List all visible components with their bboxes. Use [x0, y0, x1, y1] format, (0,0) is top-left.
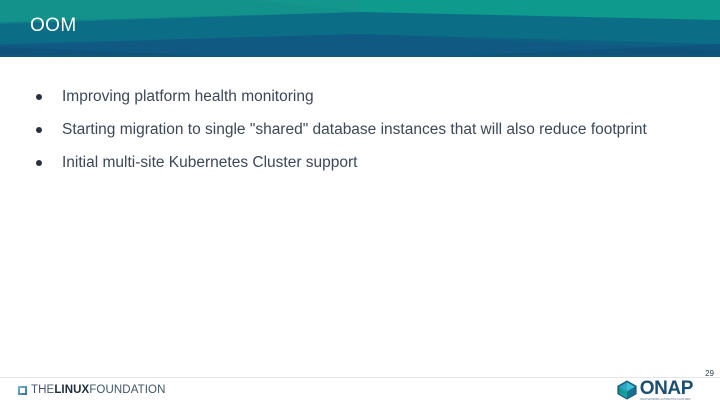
footer-divider: [0, 377, 720, 378]
onap-text-block: ONAP OPEN NETWORK AUTOMATION PLATFORM: [640, 379, 693, 402]
list-item: Starting migration to single "shared" da…: [0, 116, 720, 144]
list-item-text: Initial multi-site Kubernetes Cluster su…: [62, 149, 680, 177]
bullet-point-icon: [36, 127, 42, 133]
bullet-point-icon: [36, 94, 42, 100]
list-item: Initial multi-site Kubernetes Cluster su…: [0, 149, 720, 177]
linux-foundation-the-text: THE: [31, 384, 54, 396]
page-number: 29: [705, 369, 714, 379]
bullet-list: Improving platform health monitoring Sta…: [0, 57, 720, 177]
slide-footer: THELINUXFOUNDATION ONAP OPEN NETWORK AUT…: [0, 377, 720, 405]
linux-foundation-square-icon: [18, 386, 27, 395]
onap-wordmark: ONAP: [640, 379, 693, 398]
page-title: OOM: [30, 14, 77, 38]
list-item-text: Improving platform health monitoring: [62, 83, 680, 111]
linux-foundation-wordmark: THELINUXFOUNDATION: [31, 384, 165, 396]
list-item-text: Starting migration to single "shared" da…: [62, 116, 680, 144]
bullet-point-icon: [36, 160, 42, 166]
onap-logo: ONAP OPEN NETWORK AUTOMATION PLATFORM: [616, 378, 693, 402]
onap-cube-icon: [616, 379, 638, 401]
linux-foundation-foundation-text: FOUNDATION: [89, 384, 165, 396]
list-item: Improving platform health monitoring: [0, 83, 720, 111]
slide-header-banner: OOM: [0, 0, 720, 57]
onap-tagline: OPEN NETWORK AUTOMATION PLATFORM: [640, 398, 693, 402]
slide-body: Improving platform health monitoring Sta…: [0, 57, 720, 357]
linux-foundation-linux-text: LINUX: [54, 384, 89, 396]
banner-chevron-graphic: [0, 0, 720, 57]
slide: OOM Improving platform health monitoring…: [0, 0, 720, 405]
linux-foundation-logo: THELINUXFOUNDATION: [18, 383, 165, 397]
